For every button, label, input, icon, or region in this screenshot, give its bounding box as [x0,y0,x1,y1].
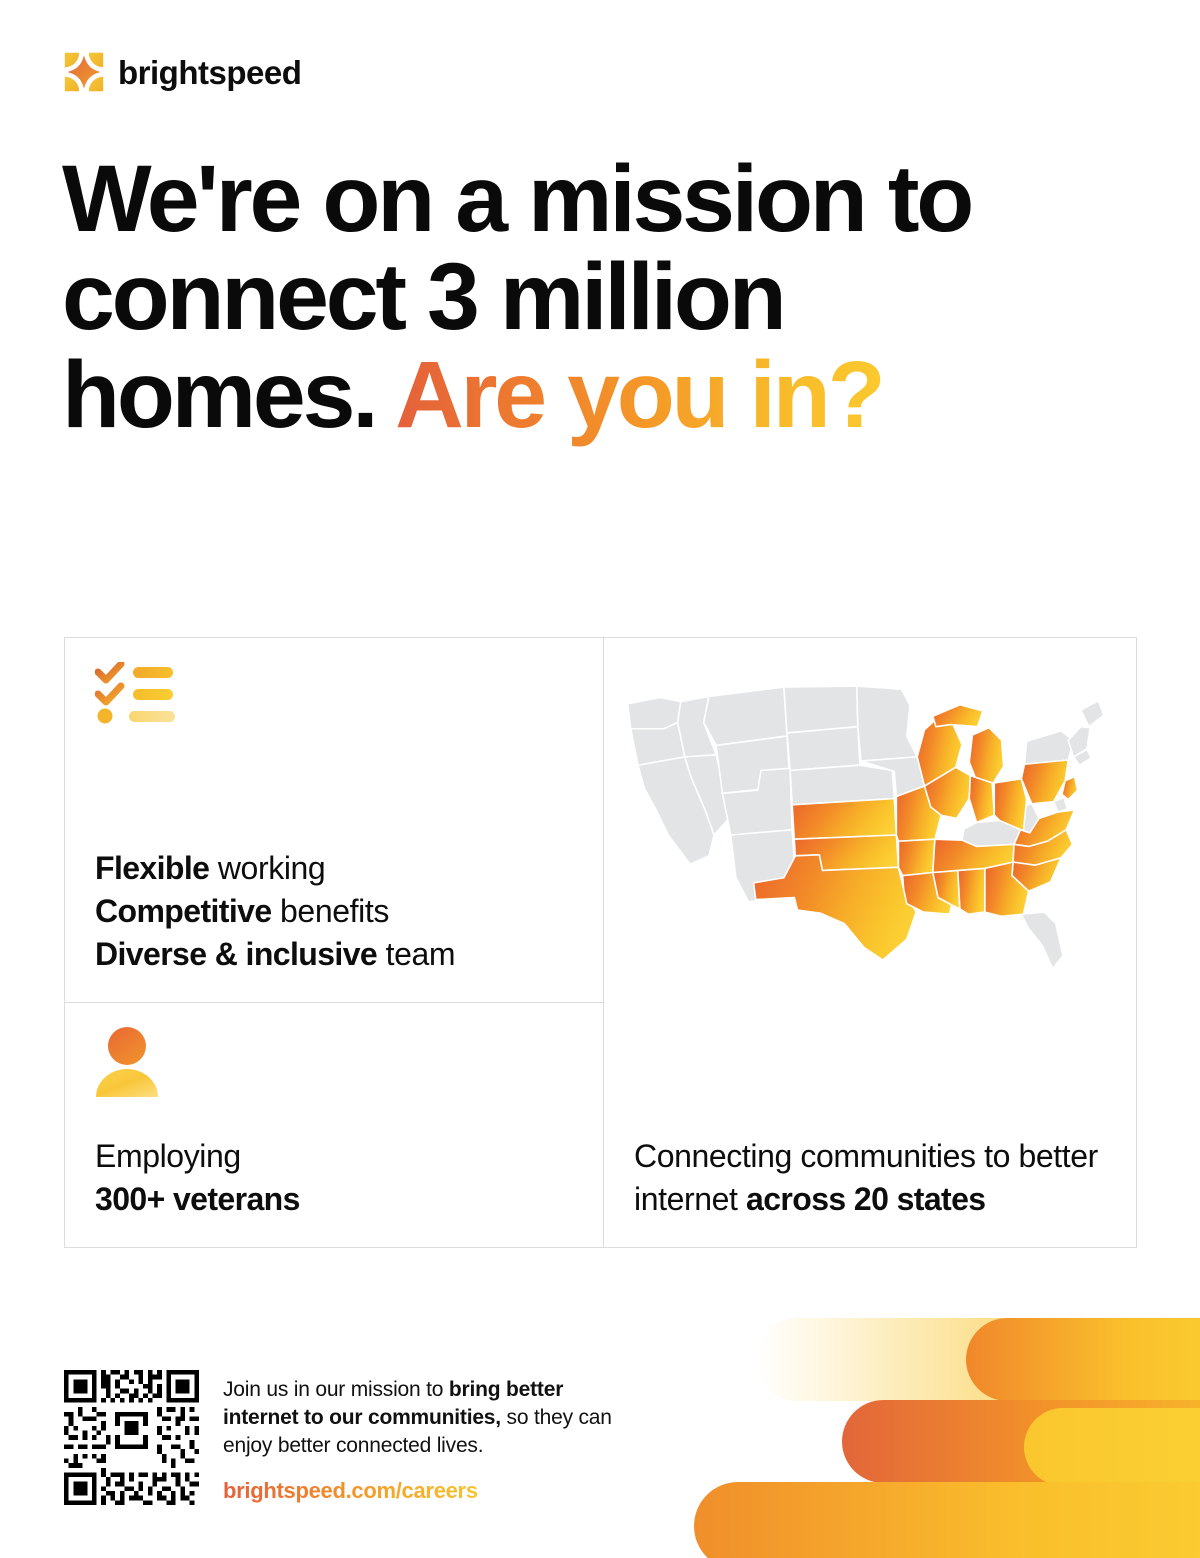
benefit-2-bold: Competitive [95,893,272,929]
card-veterans-text: Employing 300+ veterans [95,1135,573,1221]
benefit-3-bold: Diverse & inclusive [95,936,377,972]
card-benefits-text: Flexible working Competitive benefits Di… [95,847,573,976]
brightspeed-diamond-icon [64,52,104,92]
qr-code-icon[interactable] [64,1370,199,1505]
card-benefits: Flexible working Competitive benefits Di… [65,638,604,1003]
footer-copy: Join us in our mission to bring better i… [223,1376,643,1460]
brand-logo[interactable]: brightspeed [64,52,301,92]
headline-line-3-accent: Are you in? [395,342,882,448]
careers-url-link[interactable]: brightspeed.com/careers [223,1478,478,1504]
footer: Join us in our mission to bring better i… [64,1370,643,1505]
card-veterans: Employing 300+ veterans [65,1003,604,1247]
card-map: Connecting communities to better interne… [604,638,1136,1247]
brand-name: brightspeed [118,56,301,89]
checklist-icon [95,662,177,729]
map-caption-bold: across 20 states [746,1181,985,1217]
decorative-pills [680,1308,1200,1558]
benefit-3-rest: team [377,936,455,972]
person-icon [95,1027,159,1102]
benefit-1-bold: Flexible [95,850,209,886]
headline-line-2: connect 3 million [62,244,784,350]
headline-line-3-black: homes. [62,342,395,448]
footer-text-block: Join us in our mission to bring better i… [223,1370,643,1504]
card-map-text: Connecting communities to better interne… [634,1135,1116,1221]
page-headline: We're on a mission to connect 3 million … [62,150,1122,444]
benefit-2-rest: benefits [272,893,389,929]
veterans-line-2: 300+ veterans [95,1181,300,1217]
footer-copy-part1: Join us in our mission to [223,1378,449,1401]
us-map-icon [612,660,1112,1010]
benefit-1-rest: working [209,850,325,886]
headline-line-1: We're on a mission to [62,146,971,252]
veterans-line-1: Employing [95,1135,573,1178]
highlights-grid: Flexible working Competitive benefits Di… [64,637,1137,1248]
